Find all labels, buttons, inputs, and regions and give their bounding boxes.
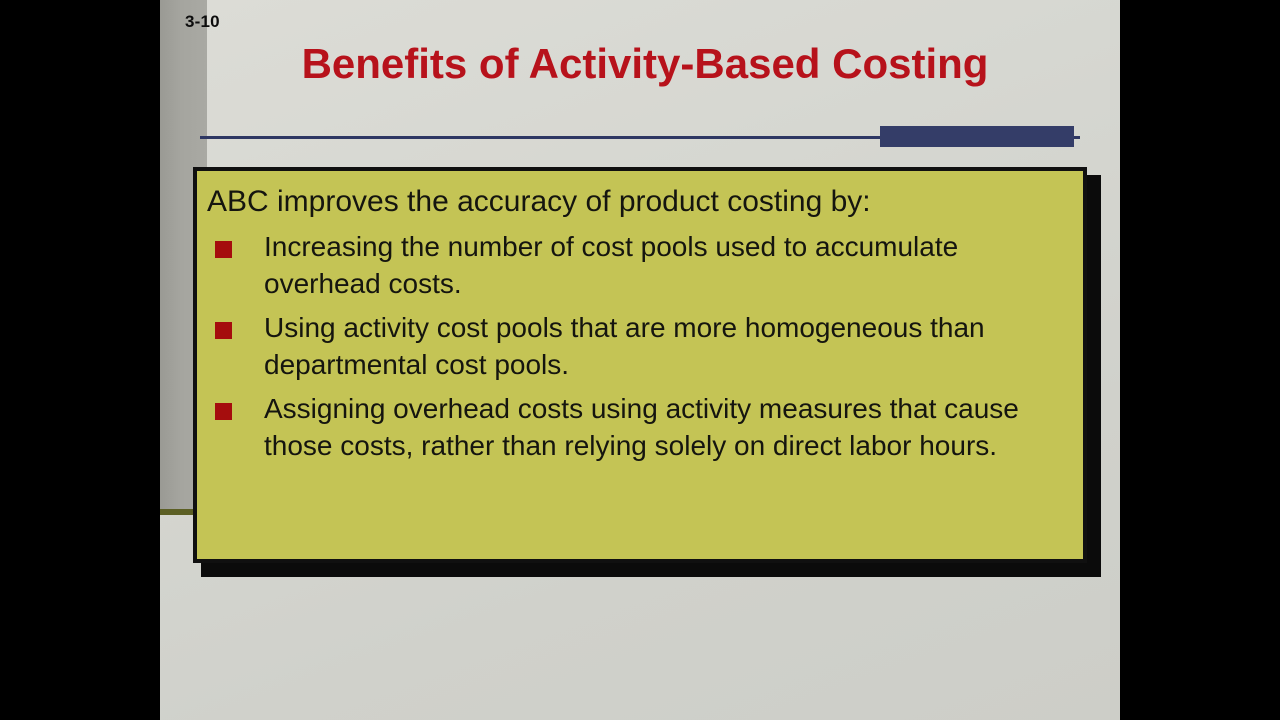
- content-lead-text: ABC improves the accuracy of product cos…: [207, 185, 1073, 219]
- bullet-item-text: Increasing the number of cost pools used…: [264, 228, 1073, 303]
- bullet-item-text: Using activity cost pools that are more …: [264, 309, 1073, 384]
- square-bullet-icon: [215, 241, 232, 258]
- content-panel: ABC improves the accuracy of product cos…: [193, 167, 1087, 563]
- slide-title: Benefits of Activity-Based Costing: [200, 40, 1090, 88]
- bullet-item: Increasing the number of cost pools used…: [207, 228, 1073, 303]
- square-bullet-icon: [215, 403, 232, 420]
- bullet-item: Using activity cost pools that are more …: [207, 309, 1073, 384]
- title-accent-block: [880, 126, 1074, 147]
- square-bullet-icon: [215, 322, 232, 339]
- letterbox-stage: 3-10 Benefits of Activity-Based Costing …: [0, 0, 1280, 720]
- bullet-item: Assigning overhead costs using activity …: [207, 390, 1073, 465]
- bullet-item-text: Assigning overhead costs using activity …: [264, 390, 1073, 465]
- slide-canvas: 3-10 Benefits of Activity-Based Costing …: [160, 0, 1120, 720]
- slide-number: 3-10: [185, 12, 220, 32]
- content-panel-inner: ABC improves the accuracy of product cos…: [197, 171, 1083, 559]
